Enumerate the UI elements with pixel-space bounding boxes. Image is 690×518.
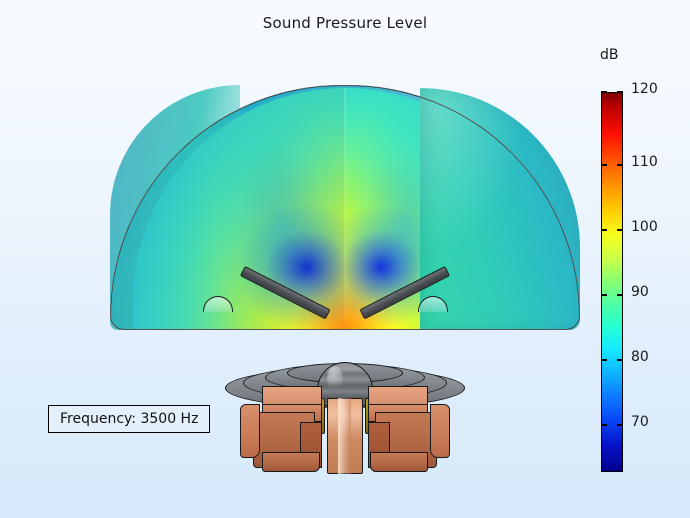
- magnet-flank-left: [240, 404, 260, 458]
- bottom-plate-left: [262, 452, 320, 472]
- colorbar-gradient: [601, 92, 623, 472]
- colorbar-unit-label: dB: [600, 47, 660, 63]
- frequency-annotation: Frequency: 3500 Hz: [48, 405, 210, 433]
- plot-canvas: Sound Pressure Level: [0, 0, 690, 518]
- acoustic-field-visualization[interactable]: [0, 0, 690, 518]
- colorbar[interactable]: 120110100908070: [601, 92, 623, 472]
- symmetry-axis-seam: [344, 88, 346, 330]
- pole-piece-highlight: [338, 398, 351, 474]
- magnet-flank-right: [430, 404, 450, 458]
- colorbar-tick-label-90: 90: [631, 284, 649, 300]
- dome-diaphragm-highlight: [327, 366, 343, 392]
- colorbar-tick-label-70: 70: [631, 414, 649, 430]
- colorbar-tick-label-100: 100: [631, 219, 658, 235]
- colorbar-tick-label-120: 120: [631, 81, 658, 97]
- cut-plane-left-half: [133, 88, 345, 330]
- colorbar-tick-label-110: 110: [631, 154, 658, 170]
- bottom-plate-right: [370, 452, 428, 472]
- colorbar-tick-label-80: 80: [631, 349, 649, 365]
